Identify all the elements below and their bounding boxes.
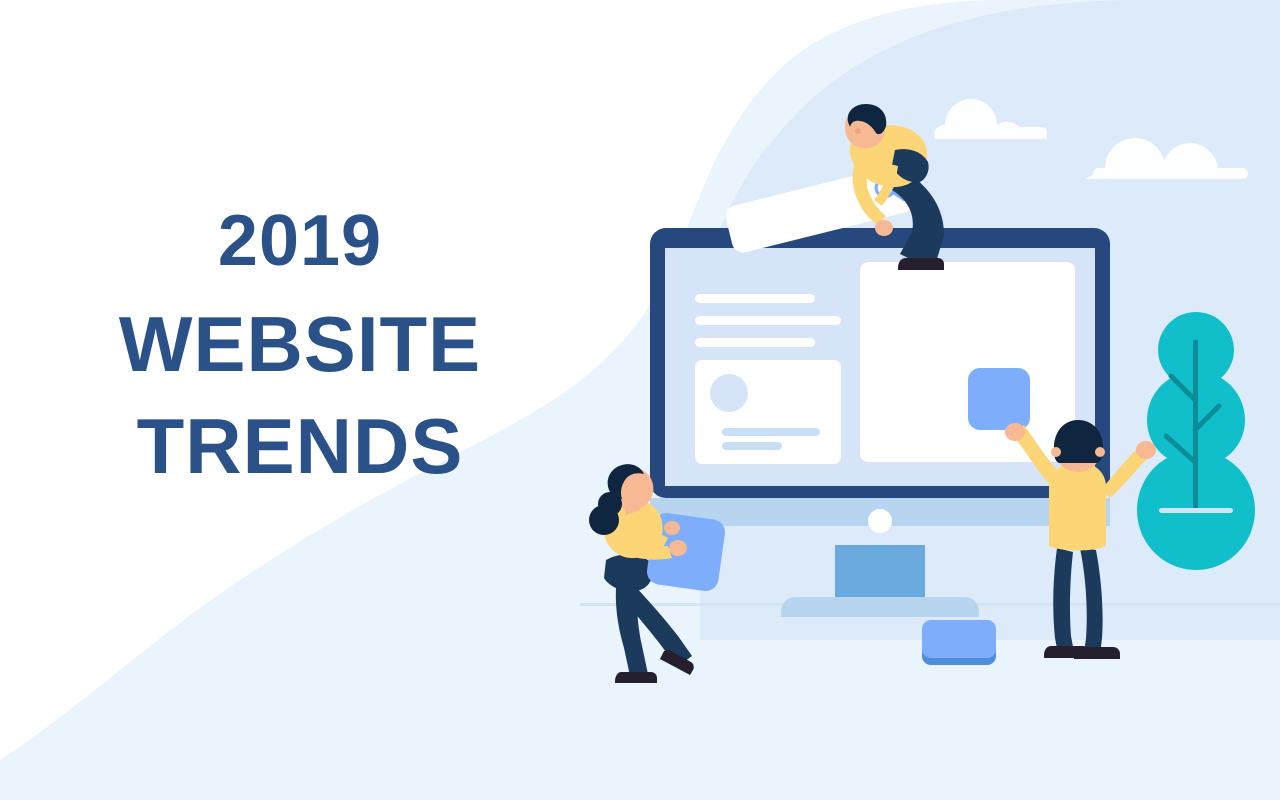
avatar-line-1: [722, 428, 820, 436]
tree: [1137, 312, 1255, 570]
avatar-circle: [710, 374, 748, 412]
tree-shadow: [1159, 508, 1233, 513]
monitor-screen-left-panel[interactable]: [695, 360, 841, 464]
monitor-power-dot: [868, 509, 892, 533]
hand-left-person-b: [664, 521, 680, 535]
hand-right-person-left: [1005, 423, 1025, 441]
illustration-layer: [0, 0, 1280, 800]
shoe-left-front: [615, 672, 657, 683]
illustration-canvas: 2019 WEBSITE TRENDS: [0, 0, 1280, 800]
hand-right-person-right: [1136, 441, 1156, 459]
avatar-line-2: [722, 442, 782, 450]
blue-tile-on-screen: [968, 368, 1030, 430]
monitor-neck: [835, 545, 925, 597]
shoe-top-person: [898, 258, 944, 270]
shoe-right-right: [1074, 647, 1120, 659]
monitor-base: [781, 597, 979, 617]
blue-block-ground[interactable]: [922, 620, 996, 665]
monitor-screen-right-panel[interactable]: [860, 262, 1075, 462]
hand-top-person: [875, 220, 893, 236]
hand-left-person-a: [669, 540, 687, 556]
